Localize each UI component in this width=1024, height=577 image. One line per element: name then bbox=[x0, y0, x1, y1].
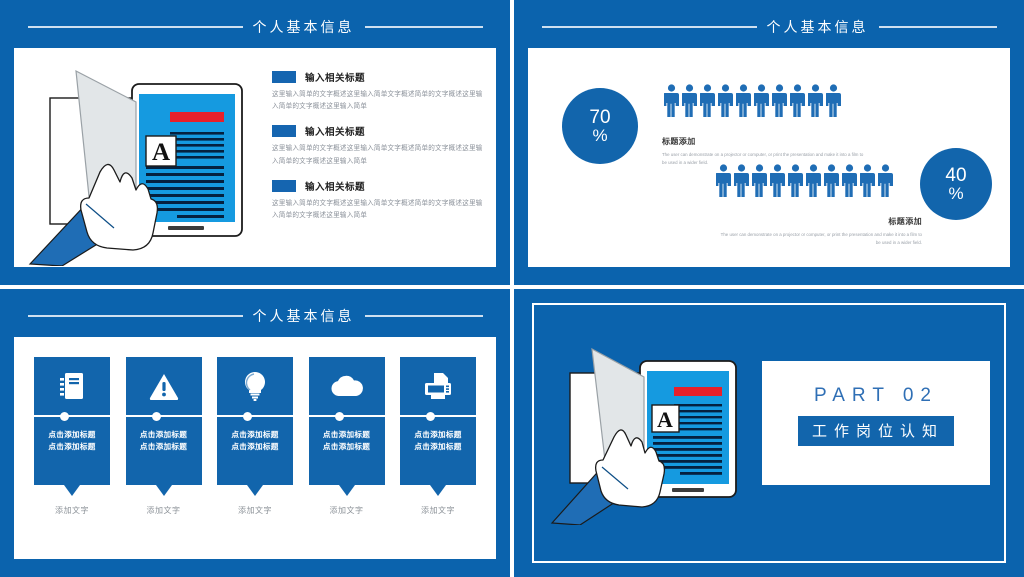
header-rule-right bbox=[365, 315, 483, 317]
person-icon bbox=[682, 84, 697, 120]
bullet-chip-icon bbox=[272, 71, 296, 83]
timeline-card-subtitle: 添加文字 bbox=[400, 505, 476, 516]
slide-1-item-body: 这里输入简单的文字概述这里输入简单文字概述简单的文字概述这里输入简单的文字概述这… bbox=[272, 143, 484, 167]
timeline-pointer-icon bbox=[339, 485, 355, 496]
stat-value: 70 bbox=[589, 108, 610, 127]
stat-caption-title: 标题添加 bbox=[717, 216, 922, 227]
bullet-chip-icon bbox=[272, 125, 296, 137]
timeline-card-subtitle: 添加文字 bbox=[217, 505, 293, 516]
slide-1-item-list: 输入相关标题 这里输入简单的文字概述这里输入简单文字概述简单的文字概述这里输入简… bbox=[272, 70, 484, 233]
timeline-connector bbox=[34, 415, 110, 417]
timeline-card-subtitle: 添加文字 bbox=[34, 505, 110, 516]
person-icon bbox=[754, 84, 769, 120]
slide-1-item[interactable]: 输入相关标题 这里输入简单的文字概述这里输入简单文字概述简单的文字概述这里输入简… bbox=[272, 124, 484, 167]
slide-1-item-head: 输入相关标题 bbox=[272, 179, 484, 193]
stat-caption-title: 标题添加 bbox=[662, 136, 867, 147]
slide-1-item[interactable]: 输入相关标题 这里输入简单的文字概述这里输入简单文字概述简单的文字概述这里输入简… bbox=[272, 70, 484, 113]
person-icon bbox=[736, 84, 751, 120]
timeline-pointer-icon bbox=[247, 485, 263, 496]
timeline-dot bbox=[152, 412, 161, 421]
slide-1-item-body: 这里输入简单的文字概述这里输入简单文字概述简单的文字概述这里输入简单的文字概述这… bbox=[272, 89, 484, 113]
timeline-pointer-icon bbox=[430, 485, 446, 496]
stat-percent-sign: % bbox=[592, 127, 607, 144]
person-icon bbox=[734, 164, 749, 200]
timeline-pointer-icon bbox=[156, 485, 172, 496]
timeline-card-title: 点击添加标题 点击添加标题 bbox=[34, 429, 110, 453]
timeline-card-title-line2: 点击添加标题 bbox=[126, 441, 202, 453]
stat-value: 40 bbox=[945, 166, 966, 185]
person-icon bbox=[716, 164, 731, 200]
timeline-card-title: 点击添加标题 点击添加标题 bbox=[217, 429, 293, 453]
timeline-card-title-line2: 点击添加标题 bbox=[217, 441, 293, 453]
timeline-card-title-line2: 点击添加标题 bbox=[34, 441, 110, 453]
notebook-icon bbox=[34, 357, 110, 415]
timeline-dot bbox=[60, 412, 69, 421]
timeline-card-box[interactable]: 点击添加标题 点击添加标题 bbox=[126, 357, 202, 485]
person-icon bbox=[878, 164, 893, 200]
timeline-card-title-line1: 点击添加标题 bbox=[34, 429, 110, 441]
timeline-card-title: 点击添加标题 点击添加标题 bbox=[126, 429, 202, 453]
slide-1-header-title: 个人基本信息 bbox=[253, 17, 355, 37]
timeline-card-subtitle: 添加文字 bbox=[309, 505, 385, 516]
header-rule-left bbox=[542, 26, 757, 28]
person-icon bbox=[788, 164, 803, 200]
stat-caption-body: The user can demonstrate on a projector … bbox=[717, 231, 922, 248]
slide-2[interactable]: 个人基本信息 70 % 标题添加 The user can demonstrat… bbox=[514, 0, 1024, 285]
timeline-line bbox=[309, 415, 409, 417]
timeline-connector bbox=[126, 415, 202, 417]
tablet-hand-reading-illustration: A bbox=[22, 54, 270, 266]
warning-icon bbox=[126, 357, 202, 415]
slide-3[interactable]: 个人基本信息 点击添加标题 点击添加标题 添加文字 bbox=[0, 289, 510, 577]
timeline-dot bbox=[243, 412, 252, 421]
bullet-chip-icon bbox=[272, 180, 296, 192]
stat-caption-1: 标题添加 The user can demonstrate on a proje… bbox=[662, 136, 867, 168]
timeline-card-title-line2: 点击添加标题 bbox=[400, 441, 476, 453]
lightbulb-icon bbox=[217, 357, 293, 415]
slide-4[interactable]: A PART 02 工作岗位认知 bbox=[514, 289, 1024, 577]
timeline-line bbox=[217, 415, 317, 417]
printer-icon bbox=[400, 357, 476, 415]
slide-4-frame: A PART 02 工作岗位认知 bbox=[532, 303, 1006, 563]
timeline-dot bbox=[335, 412, 344, 421]
timeline-line bbox=[126, 415, 226, 417]
slide-3-column-list: 点击添加标题 点击添加标题 添加文字 点击添加标题 点击添加标题 添加文字 bbox=[34, 357, 476, 547]
timeline-card-title-line1: 点击添加标题 bbox=[309, 429, 385, 441]
timeline-pointer-icon bbox=[64, 485, 80, 496]
timeline-connector bbox=[400, 415, 476, 417]
slide-1-item-head: 输入相关标题 bbox=[272, 124, 484, 138]
stat-circle-40[interactable]: 40 % bbox=[920, 148, 992, 220]
timeline-connector bbox=[309, 415, 385, 417]
timeline-card[interactable]: 点击添加标题 点击添加标题 添加文字 bbox=[34, 357, 110, 547]
stat-circle-70[interactable]: 70 % bbox=[562, 88, 638, 164]
slide-1-item-head: 输入相关标题 bbox=[272, 70, 484, 84]
slide-1-item-title: 输入相关标题 bbox=[305, 179, 365, 193]
slide-1-header: 个人基本信息 bbox=[14, 16, 496, 38]
slide-1-item-body: 这里输入简单的文字概述这里输入简单文字概述简单的文字概述这里输入简单的文字概述这… bbox=[272, 198, 484, 222]
svg-text:A: A bbox=[657, 407, 673, 432]
people-row-1 bbox=[664, 84, 841, 120]
timeline-card-box[interactable]: 点击添加标题 点击添加标题 bbox=[34, 357, 110, 485]
timeline-card[interactable]: 点击添加标题 点击添加标题 添加文字 bbox=[126, 357, 202, 547]
person-icon bbox=[824, 164, 839, 200]
header-rule-right bbox=[879, 26, 997, 28]
person-icon bbox=[842, 164, 857, 200]
person-icon bbox=[860, 164, 875, 200]
timeline-connector bbox=[217, 415, 293, 417]
slide-3-header-title: 个人基本信息 bbox=[253, 306, 355, 326]
slide-1-item-title: 输入相关标题 bbox=[305, 70, 365, 84]
slide-3-timeline: 点击添加标题 点击添加标题 添加文字 点击添加标题 点击添加标题 添加文字 bbox=[34, 357, 476, 547]
timeline-card[interactable]: 点击添加标题 点击添加标题 添加文字 bbox=[217, 357, 293, 547]
slide-3-card: 点击添加标题 点击添加标题 添加文字 点击添加标题 点击添加标题 添加文字 bbox=[14, 337, 496, 559]
slide-2-header: 个人基本信息 bbox=[528, 16, 1010, 38]
person-icon bbox=[826, 84, 841, 120]
header-rule-left bbox=[28, 26, 243, 28]
slide-4-part-label: PART 02 bbox=[774, 385, 978, 407]
svg-text:A: A bbox=[152, 139, 170, 166]
slide-1-item[interactable]: 输入相关标题 这里输入简单的文字概述这里输入简单文字概述简单的文字概述这里输入简… bbox=[272, 179, 484, 222]
timeline-card-title-line1: 点击添加标题 bbox=[126, 429, 202, 441]
cloud-icon bbox=[309, 357, 385, 415]
slide-4-title-block: PART 02 工作岗位认知 bbox=[774, 385, 978, 446]
timeline-card[interactable]: 点击添加标题 点击添加标题 添加文字 bbox=[309, 357, 385, 547]
stat-percent-sign: % bbox=[948, 185, 963, 202]
timeline-card-box[interactable]: 点击添加标题 点击添加标题 bbox=[217, 357, 293, 485]
timeline-card-title-line1: 点击添加标题 bbox=[400, 429, 476, 441]
slide-2-header-title: 个人基本信息 bbox=[767, 17, 869, 37]
slide-grid: 个人基本信息 bbox=[0, 0, 1024, 577]
slide-3-header: 个人基本信息 bbox=[14, 305, 496, 327]
timeline-card-title-line2: 点击添加标题 bbox=[309, 441, 385, 453]
header-rule-right bbox=[365, 26, 483, 28]
timeline-card-title-line1: 点击添加标题 bbox=[217, 429, 293, 441]
timeline-card-box[interactable]: 点击添加标题 点击添加标题 bbox=[400, 357, 476, 485]
people-row-2 bbox=[716, 164, 893, 200]
slide-1-item-title: 输入相关标题 bbox=[305, 124, 365, 138]
timeline-line bbox=[400, 415, 476, 417]
timeline-card[interactable]: 点击添加标题 点击添加标题 添加文字 bbox=[400, 357, 476, 547]
person-icon bbox=[700, 84, 715, 120]
timeline-card-box[interactable]: 点击添加标题 点击添加标题 bbox=[309, 357, 385, 485]
timeline-dot bbox=[426, 412, 435, 421]
person-icon bbox=[806, 164, 821, 200]
timeline-card-title: 点击添加标题 点击添加标题 bbox=[400, 429, 476, 453]
timeline-line bbox=[34, 415, 134, 417]
stat-caption-2: 标题添加 The user can demonstrate on a proje… bbox=[717, 216, 922, 248]
header-rule-left bbox=[28, 315, 243, 317]
person-icon bbox=[664, 84, 679, 120]
person-icon bbox=[770, 164, 785, 200]
slide-1-card: A 输入相关标题 这里输入简单的文字概述这里输入简单文字概述简单的文字概述这里输… bbox=[14, 48, 496, 267]
timeline-card-subtitle: 添加文字 bbox=[126, 505, 202, 516]
person-icon bbox=[772, 84, 787, 120]
person-icon bbox=[752, 164, 767, 200]
timeline-card-title: 点击添加标题 点击添加标题 bbox=[309, 429, 385, 453]
person-icon bbox=[718, 84, 733, 120]
slide-1[interactable]: 个人基本信息 bbox=[0, 0, 510, 285]
person-icon bbox=[790, 84, 805, 120]
person-icon bbox=[808, 84, 823, 120]
slide-2-card: 70 % 标题添加 The user can demonstrate on a … bbox=[528, 48, 1010, 267]
slide-4-section-title: 工作岗位认知 bbox=[798, 416, 954, 446]
tablet-hand-reading-illustration: A bbox=[548, 335, 758, 525]
